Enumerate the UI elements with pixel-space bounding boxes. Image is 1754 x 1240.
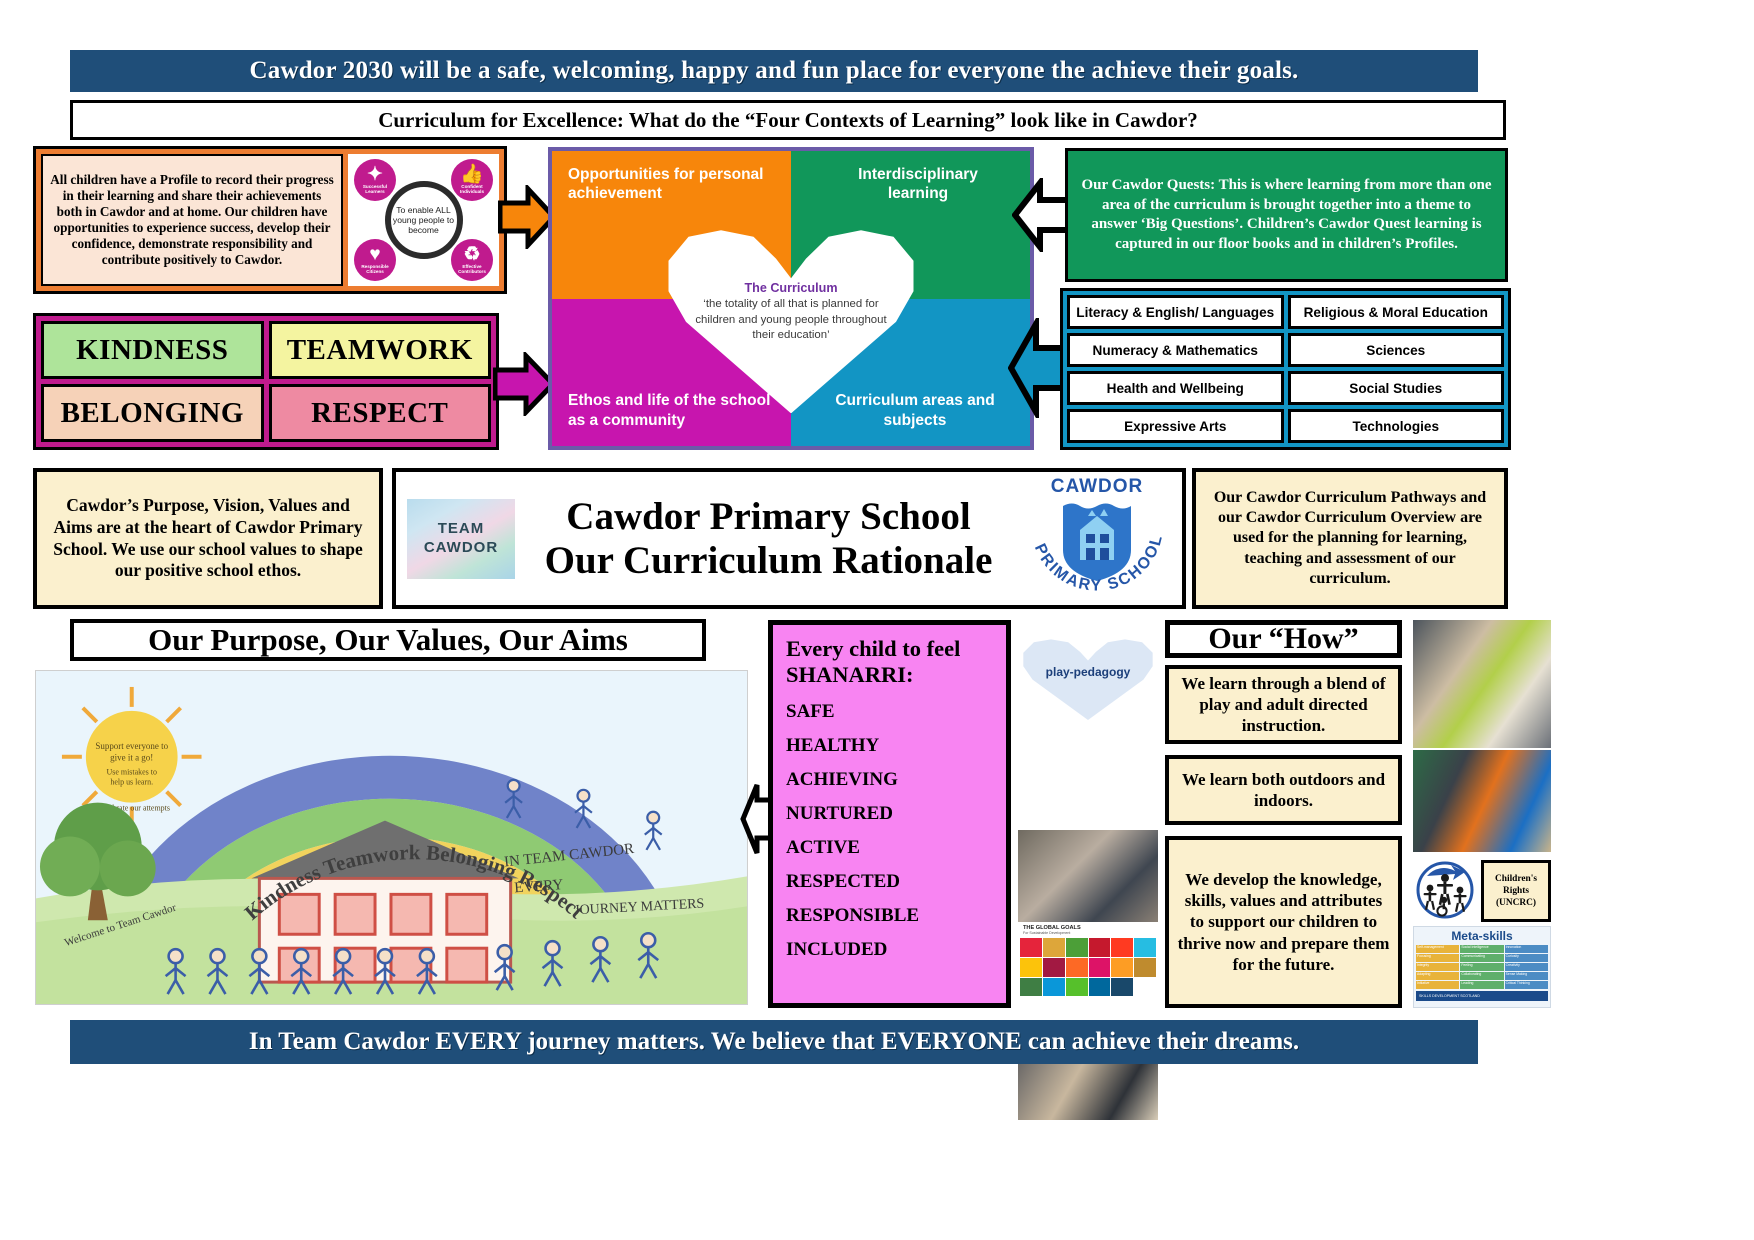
star-icon: ✦ (367, 165, 383, 184)
global-goals-panel: THE GLOBAL GOALS For Sustainable Develop… (1018, 922, 1158, 1002)
crest-top-text: CAWDOR (1022, 476, 1172, 498)
four-contexts-diagram: The Curriculum ‘the totality of all that… (548, 147, 1034, 450)
school-title-bar: TEAM CAWDOR Cawdor Primary School Our Cu… (392, 468, 1186, 609)
meta-col-innovation: Innovation Curiosity Creativity Sense Ma… (1505, 945, 1548, 989)
value-kindness: KINDNESS (41, 321, 264, 379)
meta-skills-panel: Meta-skills Self-management Focusing Int… (1413, 926, 1551, 1008)
shanarri-panel: Every child to feel SHANARRI: SAFE HEALT… (768, 620, 1011, 1008)
area-numeracy: Numeracy & Mathematics (1067, 333, 1284, 367)
meta-cell: Sense Making (1505, 972, 1548, 980)
bottom-banner: In Team Cawdor EVERY journey matters. We… (70, 1020, 1478, 1064)
svg-text:help us learn.: help us learn. (110, 778, 153, 787)
goal-tile (1089, 978, 1111, 997)
shanarri-item-safe: SAFE (786, 702, 993, 721)
meta-cell: Collaborating (1460, 972, 1503, 980)
meta-cell: Curiosity (1505, 954, 1548, 962)
school-crest: CAWDOR PRIMARY SCHOOL (1022, 474, 1172, 604)
meta-cell: Innovation (1505, 945, 1548, 953)
goal-tile (1111, 958, 1133, 977)
area-sciences: Sciences (1288, 333, 1505, 367)
shanarri-item-nurtured: NURTURED (786, 804, 993, 823)
purpose-values-aims-header: Our Purpose, Our Values, Our Aims (70, 619, 706, 661)
meta-cell: Integrity (1416, 963, 1459, 971)
area-hwb: Health and Wellbeing (1067, 371, 1284, 405)
goal-tile (1089, 938, 1111, 957)
svg-text:PRIMARY SCHOOL: PRIMARY SCHOOL (1031, 531, 1166, 594)
top-banner: Cawdor 2030 will be a safe, welcoming, h… (70, 50, 1478, 92)
meta-cell: Adapting (1416, 972, 1459, 980)
heart-icon: play-pedagogy (1022, 624, 1154, 720)
global-goals-subtitle: For Sustainable Development (1020, 931, 1156, 935)
right-photo-column: Children's Rights (UNCRC) Meta-skills Se… (1413, 620, 1551, 1008)
meta-cell: Initiative (1416, 981, 1459, 989)
goal-tile (1111, 938, 1133, 957)
heart-globe-icon: ♥ (369, 245, 380, 264)
uncrc-children-icon (1415, 860, 1475, 920)
goal-tile (1089, 958, 1111, 977)
meta-skills-grid: Self-management Focusing Integrity Adapt… (1416, 945, 1548, 989)
drawing-illustration: Support everyone to give it a go! Use mi… (36, 671, 747, 1005)
heart-title: The Curriculum (744, 281, 837, 295)
value-respect: RESPECT (269, 384, 492, 442)
arrow-values-to-curriculum (493, 352, 555, 416)
play-pedagogy-label: play-pedagogy (1046, 665, 1131, 679)
pedagogy-photo-column: play-pedagogy THE GLOBAL GOALS For Susta… (1018, 620, 1158, 1008)
cawdor-quests-box: Our Cawdor Quests: This is where learnin… (1065, 148, 1508, 282)
goal-tile (1020, 958, 1042, 977)
capacity-label: Effective Contributors (451, 265, 493, 275)
shanarri-title: Every child to feel SHANARRI: (786, 636, 993, 687)
purpose-vision-values-box: Cawdor’s Purpose, Vision, Values and Aim… (33, 468, 383, 609)
area-technologies: Technologies (1288, 409, 1505, 443)
play-pedagogy-wordcloud: play-pedagogy (1018, 620, 1158, 724)
school-title-text: Cawdor Primary School Our Curriculum Rat… (515, 495, 1022, 582)
goal-tile (1111, 978, 1133, 997)
meta-skills-footer: SKILLS DEVELOPMENT SCOTLAND (1416, 991, 1548, 1001)
crest-arc-text: PRIMARY SCHOOL (1022, 498, 1172, 602)
goal-tile (1066, 978, 1088, 997)
goal-tile (1020, 978, 1042, 997)
svg-text:EVERY: EVERY (514, 877, 564, 896)
classroom-photo-3 (1413, 620, 1551, 748)
capacity-label: Successful Learners (354, 185, 396, 195)
capacity-confident-individuals: 👍 Confident Individuals (451, 159, 493, 201)
capacity-responsible-citizens: ♥ Responsible Citizens (354, 239, 396, 281)
meta-cell: Creativity (1505, 963, 1548, 971)
profile-text: All children have a Profile to record th… (41, 154, 343, 286)
meta-cell: Critical Thinking (1505, 981, 1548, 989)
global-goals-grid (1020, 938, 1156, 996)
our-how-header: Our “How” (1165, 620, 1402, 658)
meta-col-self-management: Self-management Focusing Integrity Adapt… (1416, 945, 1459, 989)
value-belonging: BELONGING (41, 384, 264, 442)
meta-cell: Communicating (1460, 954, 1503, 962)
school-values-grid: KINDNESS TEAMWORK BELONGING RESPECT (33, 313, 499, 450)
goal-tile (1043, 958, 1065, 977)
value-teamwork: TEAMWORK (269, 321, 492, 379)
heart-body: ‘the totality of all that is planned for… (691, 297, 891, 343)
area-social-studies: Social Studies (1288, 371, 1505, 405)
classroom-photo-1 (1018, 830, 1158, 926)
capacity-effective-contributors: ♻ Effective Contributors (451, 239, 493, 281)
capacity-label: Responsible Citizens (354, 265, 396, 275)
team-logo-line2: CAWDOR (424, 539, 498, 558)
capacity-label: Confident Individuals (451, 185, 493, 195)
curriculum-areas-table: Literacy & English/ Languages Religious … (1060, 288, 1511, 450)
area-literacy: Literacy & English/ Languages (1067, 295, 1284, 329)
meta-col-social-intelligence: Social Intelligence Communicating Feelin… (1460, 945, 1503, 989)
goal-tile (1066, 958, 1088, 977)
goal-tile (1043, 938, 1065, 957)
shanarri-item-achieving: ACHIEVING (786, 770, 993, 789)
area-expressive-arts: Expressive Arts (1067, 409, 1284, 443)
area-rme: Religious & Moral Education (1288, 295, 1505, 329)
subtitle-banner: Curriculum for Excellence: What do the “… (70, 100, 1506, 140)
meta-cell: Focusing (1416, 954, 1459, 962)
capacities-center-text: To enable ALL young people to become (385, 181, 463, 259)
capacity-successful-learners: ✦ Successful Learners (354, 159, 396, 201)
meta-cell: Social Intelligence (1460, 945, 1503, 953)
meta-cell: Leading (1460, 981, 1503, 989)
document-title: Our Curriculum Rationale (515, 539, 1022, 583)
how-box-play-instruction: We learn through a blend of play and adu… (1165, 665, 1402, 744)
shanarri-item-healthy: HEALTHY (786, 736, 993, 755)
school-name: Cawdor Primary School (515, 495, 1022, 539)
meta-cell: Feeling (1460, 963, 1503, 971)
shanarri-item-respected: RESPECTED (786, 872, 993, 891)
goal-tile (1134, 978, 1156, 997)
shanarri-item-included: INCLUDED (786, 940, 993, 959)
goal-tile (1134, 958, 1156, 977)
quadrant-label-curriculum-areas: Curriculum areas and subjects (820, 391, 1010, 430)
meta-skills-title: Meta-skills (1416, 929, 1548, 943)
profile-panel: All children have a Profile to record th… (33, 146, 507, 294)
team-logo-line1: TEAM (438, 520, 485, 539)
quadrant-label-ethos: Ethos and life of the school as a commun… (568, 391, 783, 430)
team-cawdor-logo: TEAM CAWDOR (407, 499, 515, 579)
goal-tile (1066, 938, 1088, 957)
goal-tile (1043, 978, 1065, 997)
quadrant-label-interdisciplinary: Interdisciplinary learning (828, 165, 1008, 204)
shanarri-item-active: ACTIVE (786, 838, 993, 857)
quadrant-label-personal-achievement: Opportunities for personal achievement (568, 165, 778, 204)
goal-tile (1134, 938, 1156, 957)
uncrc-label-box: Children's Rights (UNCRC) (1481, 860, 1551, 922)
childrens-rainbow-drawing: Support everyone to give it a go! Use mi… (35, 670, 748, 1005)
shanarri-item-responsible: RESPONSIBLE (786, 906, 993, 925)
pathways-overview-box: Our Cawdor Curriculum Pathways and our C… (1192, 468, 1508, 609)
goal-tile (1020, 938, 1042, 957)
poster-root: Cawdor 2030 will be a safe, welcoming, h… (0, 0, 1754, 1240)
svg-text:Use mistakes to: Use mistakes to (106, 768, 156, 777)
four-capacities-diagram: ✦ Successful Learners 👍 Confident Indivi… (348, 154, 499, 286)
svg-text:give it a go!: give it a go! (110, 753, 153, 763)
how-box-outdoors-indoors: We learn both outdoors and indoors. (1165, 755, 1402, 825)
outdoor-den-photo (1413, 750, 1551, 852)
meta-cell: Self-management (1416, 945, 1459, 953)
arrow-quests-to-curriculum (1012, 178, 1072, 252)
svg-text:Support everyone to: Support everyone to (95, 741, 168, 751)
recycle-arrows-icon: ♻ (463, 245, 480, 264)
thumbs-up-icon: 👍 (460, 165, 484, 184)
how-box-knowledge-skills: We develop the knowledge, skills, values… (1165, 836, 1402, 1008)
